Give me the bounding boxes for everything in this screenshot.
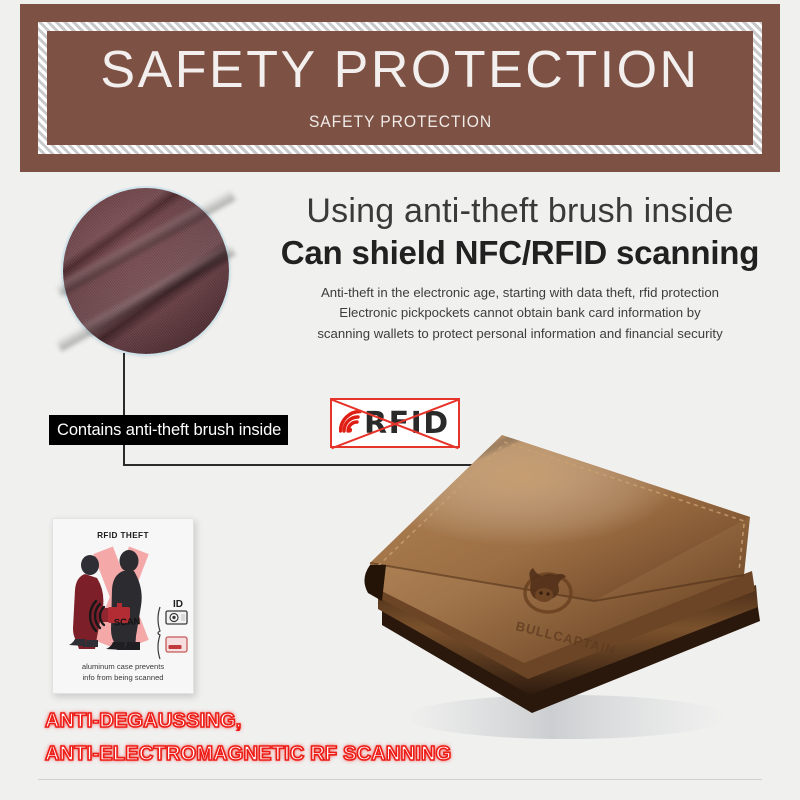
headline-body: Anti-theft in the electronic age, starti…: [250, 283, 790, 344]
callout-label-bar: Contains anti-theft brush inside: [49, 415, 288, 445]
headline-line-1: Using anti-theft brush inside: [250, 192, 790, 231]
id-items-icons: [155, 605, 189, 663]
thief-figure: [106, 550, 142, 650]
header-banner: SAFETY PROTECTION SAFETY PROTECTION: [20, 4, 780, 172]
fabric-closeup-circle: [63, 188, 229, 354]
caption-line-1: aluminum case prevents: [59, 661, 187, 672]
fabric-fold-bottom: [56, 243, 237, 351]
banner-content: SAFETY PROTECTION SAFETY PROTECTION: [47, 31, 753, 145]
victim-figure: [69, 555, 117, 649]
caption-line-2: info from being scanned: [59, 672, 187, 683]
wallet-shadow: [407, 695, 727, 739]
footer-red-text: ANTI-DEGAUSSING, ANTI-ELECTROMAGNETIC RF…: [45, 705, 451, 771]
theft-card-title: RFID THEFT: [53, 531, 193, 540]
banner-hatched-border: SAFETY PROTECTION SAFETY PROTECTION: [38, 22, 762, 154]
rfid-theft-illustration-card: RFID THEFT: [52, 518, 194, 694]
credit-card-icon: [166, 637, 187, 652]
body-line-1: Anti-theft in the electronic age, starti…: [250, 283, 790, 303]
theft-card-caption: aluminum case prevents info from being s…: [59, 661, 187, 683]
scan-label: SCAN: [114, 616, 141, 628]
headline-line-2: Can shield NFC/RFID scanning: [250, 233, 790, 273]
anti-theft-fabric-texture: [63, 188, 229, 354]
banner-title: SAFETY PROTECTION: [100, 44, 699, 96]
infographic-page: SAFETY PROTECTION SAFETY PROTECTION Usin…: [0, 0, 800, 800]
bottom-divider: [38, 779, 762, 780]
connector-line-vertical: [123, 353, 125, 466]
fabric-fold-top: [56, 189, 237, 297]
headline-block: Using anti-theft brush inside Can shield…: [250, 192, 790, 344]
footer-line-1: ANTI-DEGAUSSING,: [45, 705, 451, 738]
banner-subtitle: SAFETY PROTECTION: [308, 112, 491, 132]
footer-line-2: ANTI-ELECTROMAGNETIC RF SCANNING: [45, 738, 451, 771]
body-line-3: scanning wallets to protect personal inf…: [250, 324, 790, 344]
banknote-eye-icon: [166, 611, 187, 624]
body-line-2: Electronic pickpockets cannot obtain ban…: [250, 303, 790, 323]
